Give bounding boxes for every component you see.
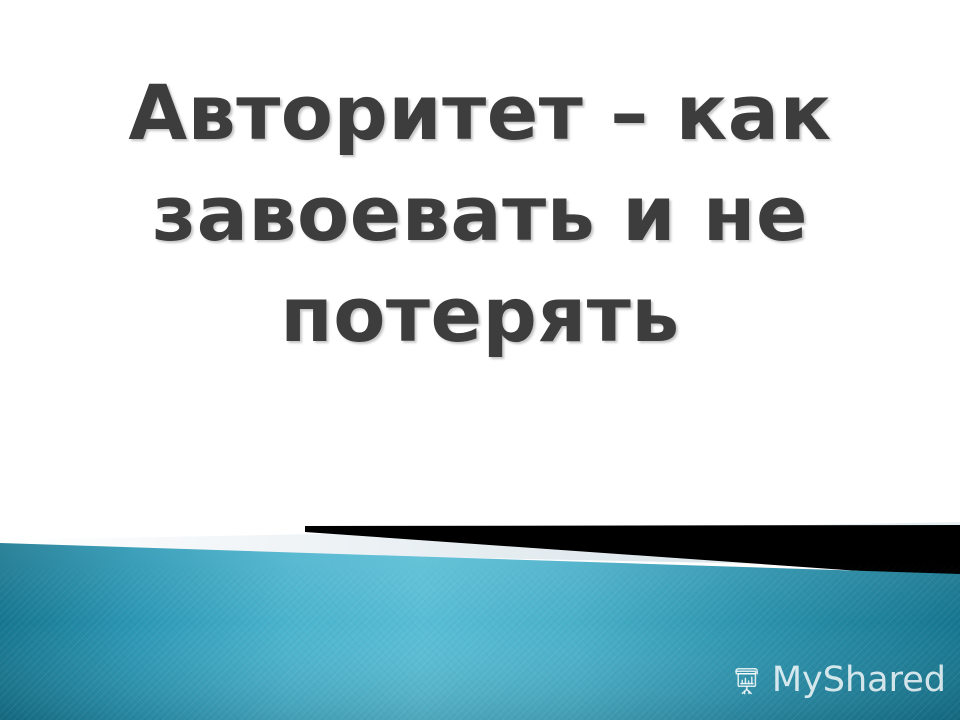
page-title: Авторитет – как завоевать и не потерять [60, 62, 900, 365]
title-placeholder: Авторитет – как завоевать и не потерять [60, 62, 900, 442]
watermark: MyShared [731, 663, 946, 698]
presentation-slide: Авторитет – как завоевать и не потерять [0, 0, 960, 720]
watermark-label: MyShared [772, 663, 946, 698]
presentation-chart-icon [731, 665, 763, 697]
